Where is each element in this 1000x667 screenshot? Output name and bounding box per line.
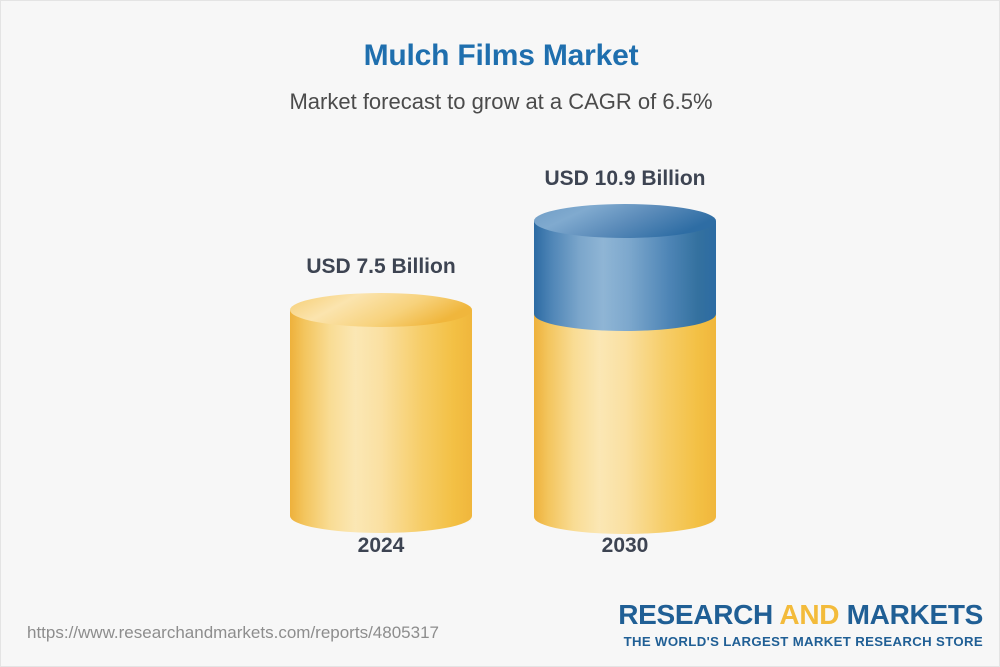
bar-category-label-2030: 2030 [534,534,716,558]
bar-group-2030: USD 10.9 Billion [534,1,716,601]
brand-tagline: THE WORLD'S LARGEST MARKET RESEARCH STOR… [618,634,983,649]
brand-wordmark: RESEARCH AND MARKETS [618,601,983,629]
chart-canvas: Mulch Films Market Market forecast to gr… [0,0,1000,667]
plot-area: USD 7.5 Billion [1,1,1000,601]
source-url-link[interactable]: https://www.researchandmarkets.com/repor… [27,623,439,643]
brand-word-research: RESEARCH [618,599,779,630]
bar-group-2024: USD 7.5 Billion [290,1,472,601]
bar-category-label-2024: 2024 [290,534,472,558]
bar-value-label-2024: USD 7.5 Billion [290,255,472,279]
brand-word-markets: MARKETS [839,599,983,630]
bar-cylinder-2024 [290,293,472,533]
brand-logo[interactable]: RESEARCH AND MARKETS THE WORLD'S LARGEST… [618,601,983,649]
bar-cylinder-2030 [534,204,716,534]
bar-value-label-2030: USD 10.9 Billion [534,167,716,191]
brand-word-and: AND [779,599,839,630]
